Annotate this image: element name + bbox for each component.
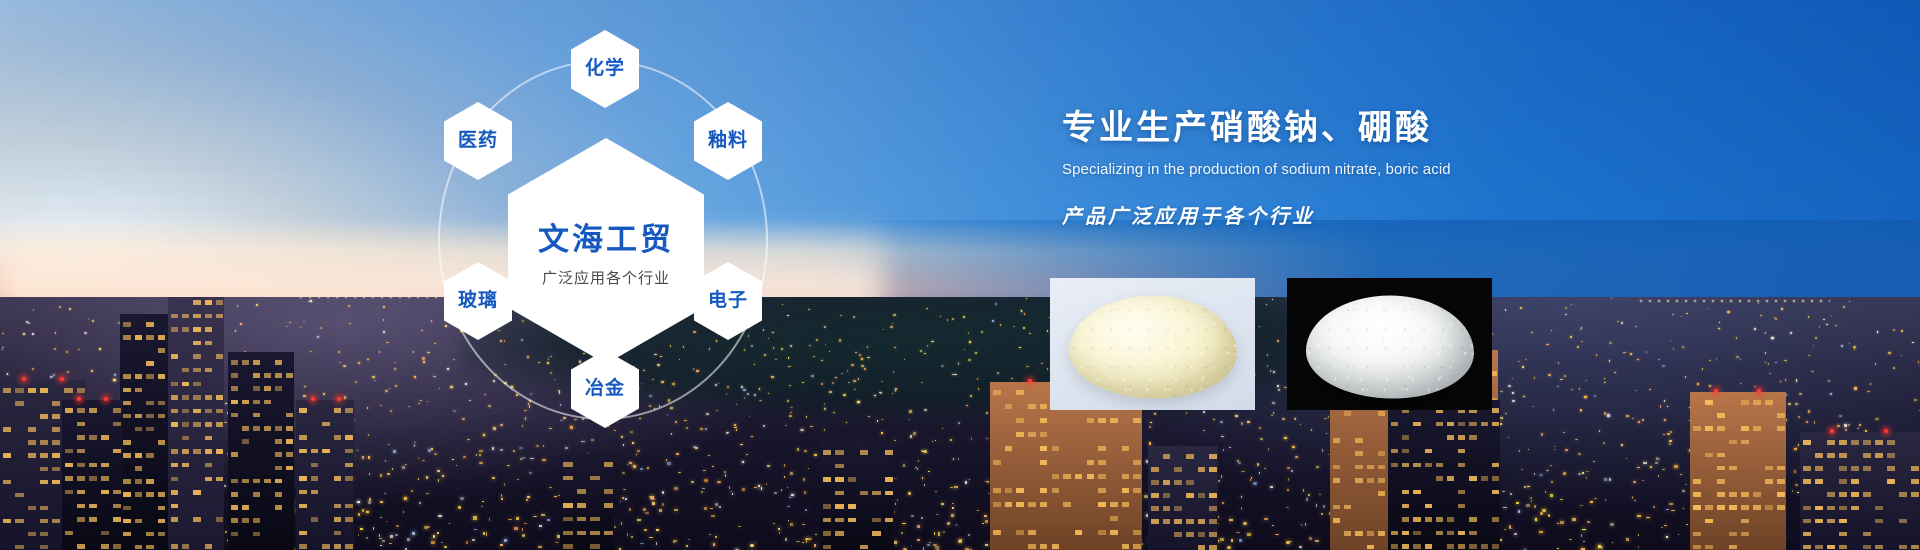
product-photo-boric-acid[interactable] (1287, 278, 1492, 410)
powder-grain-texture (1305, 295, 1473, 398)
powder-pile-cream (1068, 295, 1236, 398)
hex-node-pharmaceutical-label: 医药 (458, 131, 498, 152)
copy-block: 专业生产硝酸钠、硼酸 Specializing in the productio… (1062, 108, 1682, 229)
powder-grain-texture (1068, 295, 1236, 398)
industry-hex-diagram: 化学 釉料 电子 冶金 玻璃 医药 文海工贸 广泛应用各个行业 (430, 30, 790, 450)
subheadline-english: Specializing in the production of sodium… (1062, 161, 1682, 178)
bridge-right (1640, 300, 1830, 302)
hex-node-electronics-label: 电子 (708, 291, 748, 312)
hex-node-chemical-label: 化学 (585, 59, 625, 80)
promo-banner: 化学 釉料 电子 冶金 玻璃 医药 文海工贸 广泛应用各个行业 专业生产硝酸钠、… (0, 0, 1920, 550)
company-tagline: 广泛应用各个行业 (542, 267, 670, 288)
tagline: 产品广泛应用于各个行业 (1062, 200, 1682, 229)
cityscape (0, 297, 1920, 550)
product-photo-sodium-nitrate[interactable] (1050, 278, 1255, 410)
hex-node-glaze-label: 釉料 (708, 131, 748, 152)
company-name: 文海工贸 (538, 214, 674, 259)
hex-node-glass-label: 玻璃 (458, 291, 498, 312)
headline: 专业生产硝酸钠、硼酸 (1062, 108, 1682, 149)
product-photo-row (1050, 278, 1492, 410)
powder-pile-white (1305, 295, 1473, 398)
hex-node-metallurgy-label: 冶金 (585, 379, 625, 400)
